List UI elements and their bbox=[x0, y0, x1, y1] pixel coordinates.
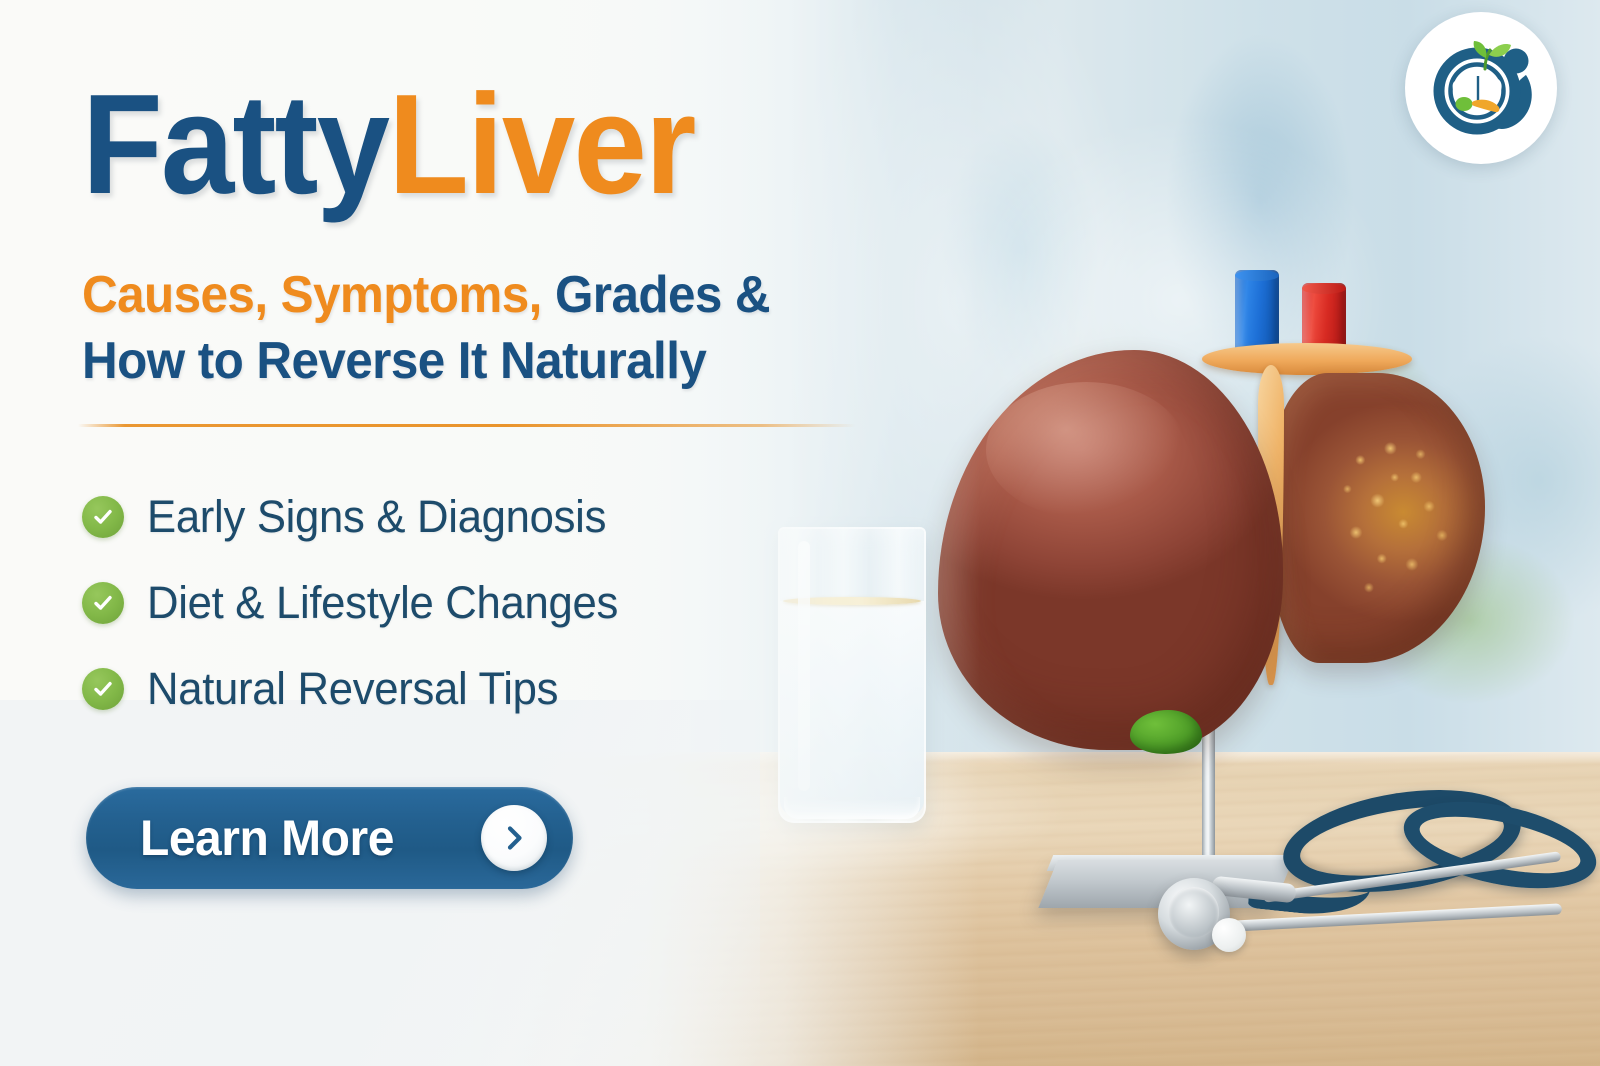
page-subtitle: Causes, Symptoms, Grades &How to Reverse… bbox=[82, 262, 770, 394]
list-item-label: Diet & Lifestyle Changes bbox=[147, 577, 618, 629]
list-item: Diet & Lifestyle Changes bbox=[82, 572, 633, 634]
chevron-right-icon[interactable] bbox=[481, 805, 547, 871]
learn-more-button[interactable]: Learn More bbox=[86, 787, 573, 889]
check-glyph-icon bbox=[91, 505, 115, 529]
list-item: Natural Reversal Tips bbox=[82, 658, 633, 720]
liver-ligament-plate bbox=[1202, 343, 1412, 375]
list-item-label: Early Signs & Diagnosis bbox=[147, 491, 606, 543]
check-circle-icon bbox=[82, 668, 124, 710]
list-item-label: Natural Reversal Tips bbox=[147, 663, 558, 715]
chevron-right-glyph-icon bbox=[499, 823, 529, 853]
blue-vein-cap-icon bbox=[1235, 270, 1279, 352]
subtitle-line1-orange: Causes, Symptoms, bbox=[82, 266, 542, 324]
list-item: Early Signs & Diagnosis bbox=[82, 486, 633, 548]
check-glyph-icon bbox=[91, 591, 115, 615]
stethoscope-eartip bbox=[1212, 918, 1246, 952]
logo-mark-icon bbox=[1422, 29, 1540, 147]
headline-word-liver: Liver bbox=[388, 65, 694, 224]
feature-bullet-list: Early Signs & Diagnosis Diet & Lifestyle… bbox=[82, 486, 633, 744]
check-circle-icon bbox=[82, 496, 124, 538]
subtitle-line2: How to Reverse It Naturally bbox=[82, 332, 706, 390]
gallbladder-icon bbox=[1130, 710, 1202, 754]
fatty-liver-promo-banner: FattyLiver Causes, Symptoms, Grades &How… bbox=[0, 0, 1600, 1066]
subtitle-line1-blue: Grades & bbox=[542, 266, 770, 324]
fatty-deposit-texture bbox=[1270, 373, 1485, 663]
banner-text-content: FattyLiver Causes, Symptoms, Grades &How… bbox=[0, 0, 1000, 1066]
headline-word-fatty: Fatty bbox=[82, 65, 388, 224]
page-title: FattyLiver bbox=[82, 74, 695, 216]
learn-more-button-label: Learn More bbox=[140, 809, 394, 867]
orange-divider-rule bbox=[78, 424, 856, 427]
check-circle-icon bbox=[82, 582, 124, 624]
liver-health-logo[interactable] bbox=[1405, 12, 1557, 164]
check-glyph-icon bbox=[91, 677, 115, 701]
